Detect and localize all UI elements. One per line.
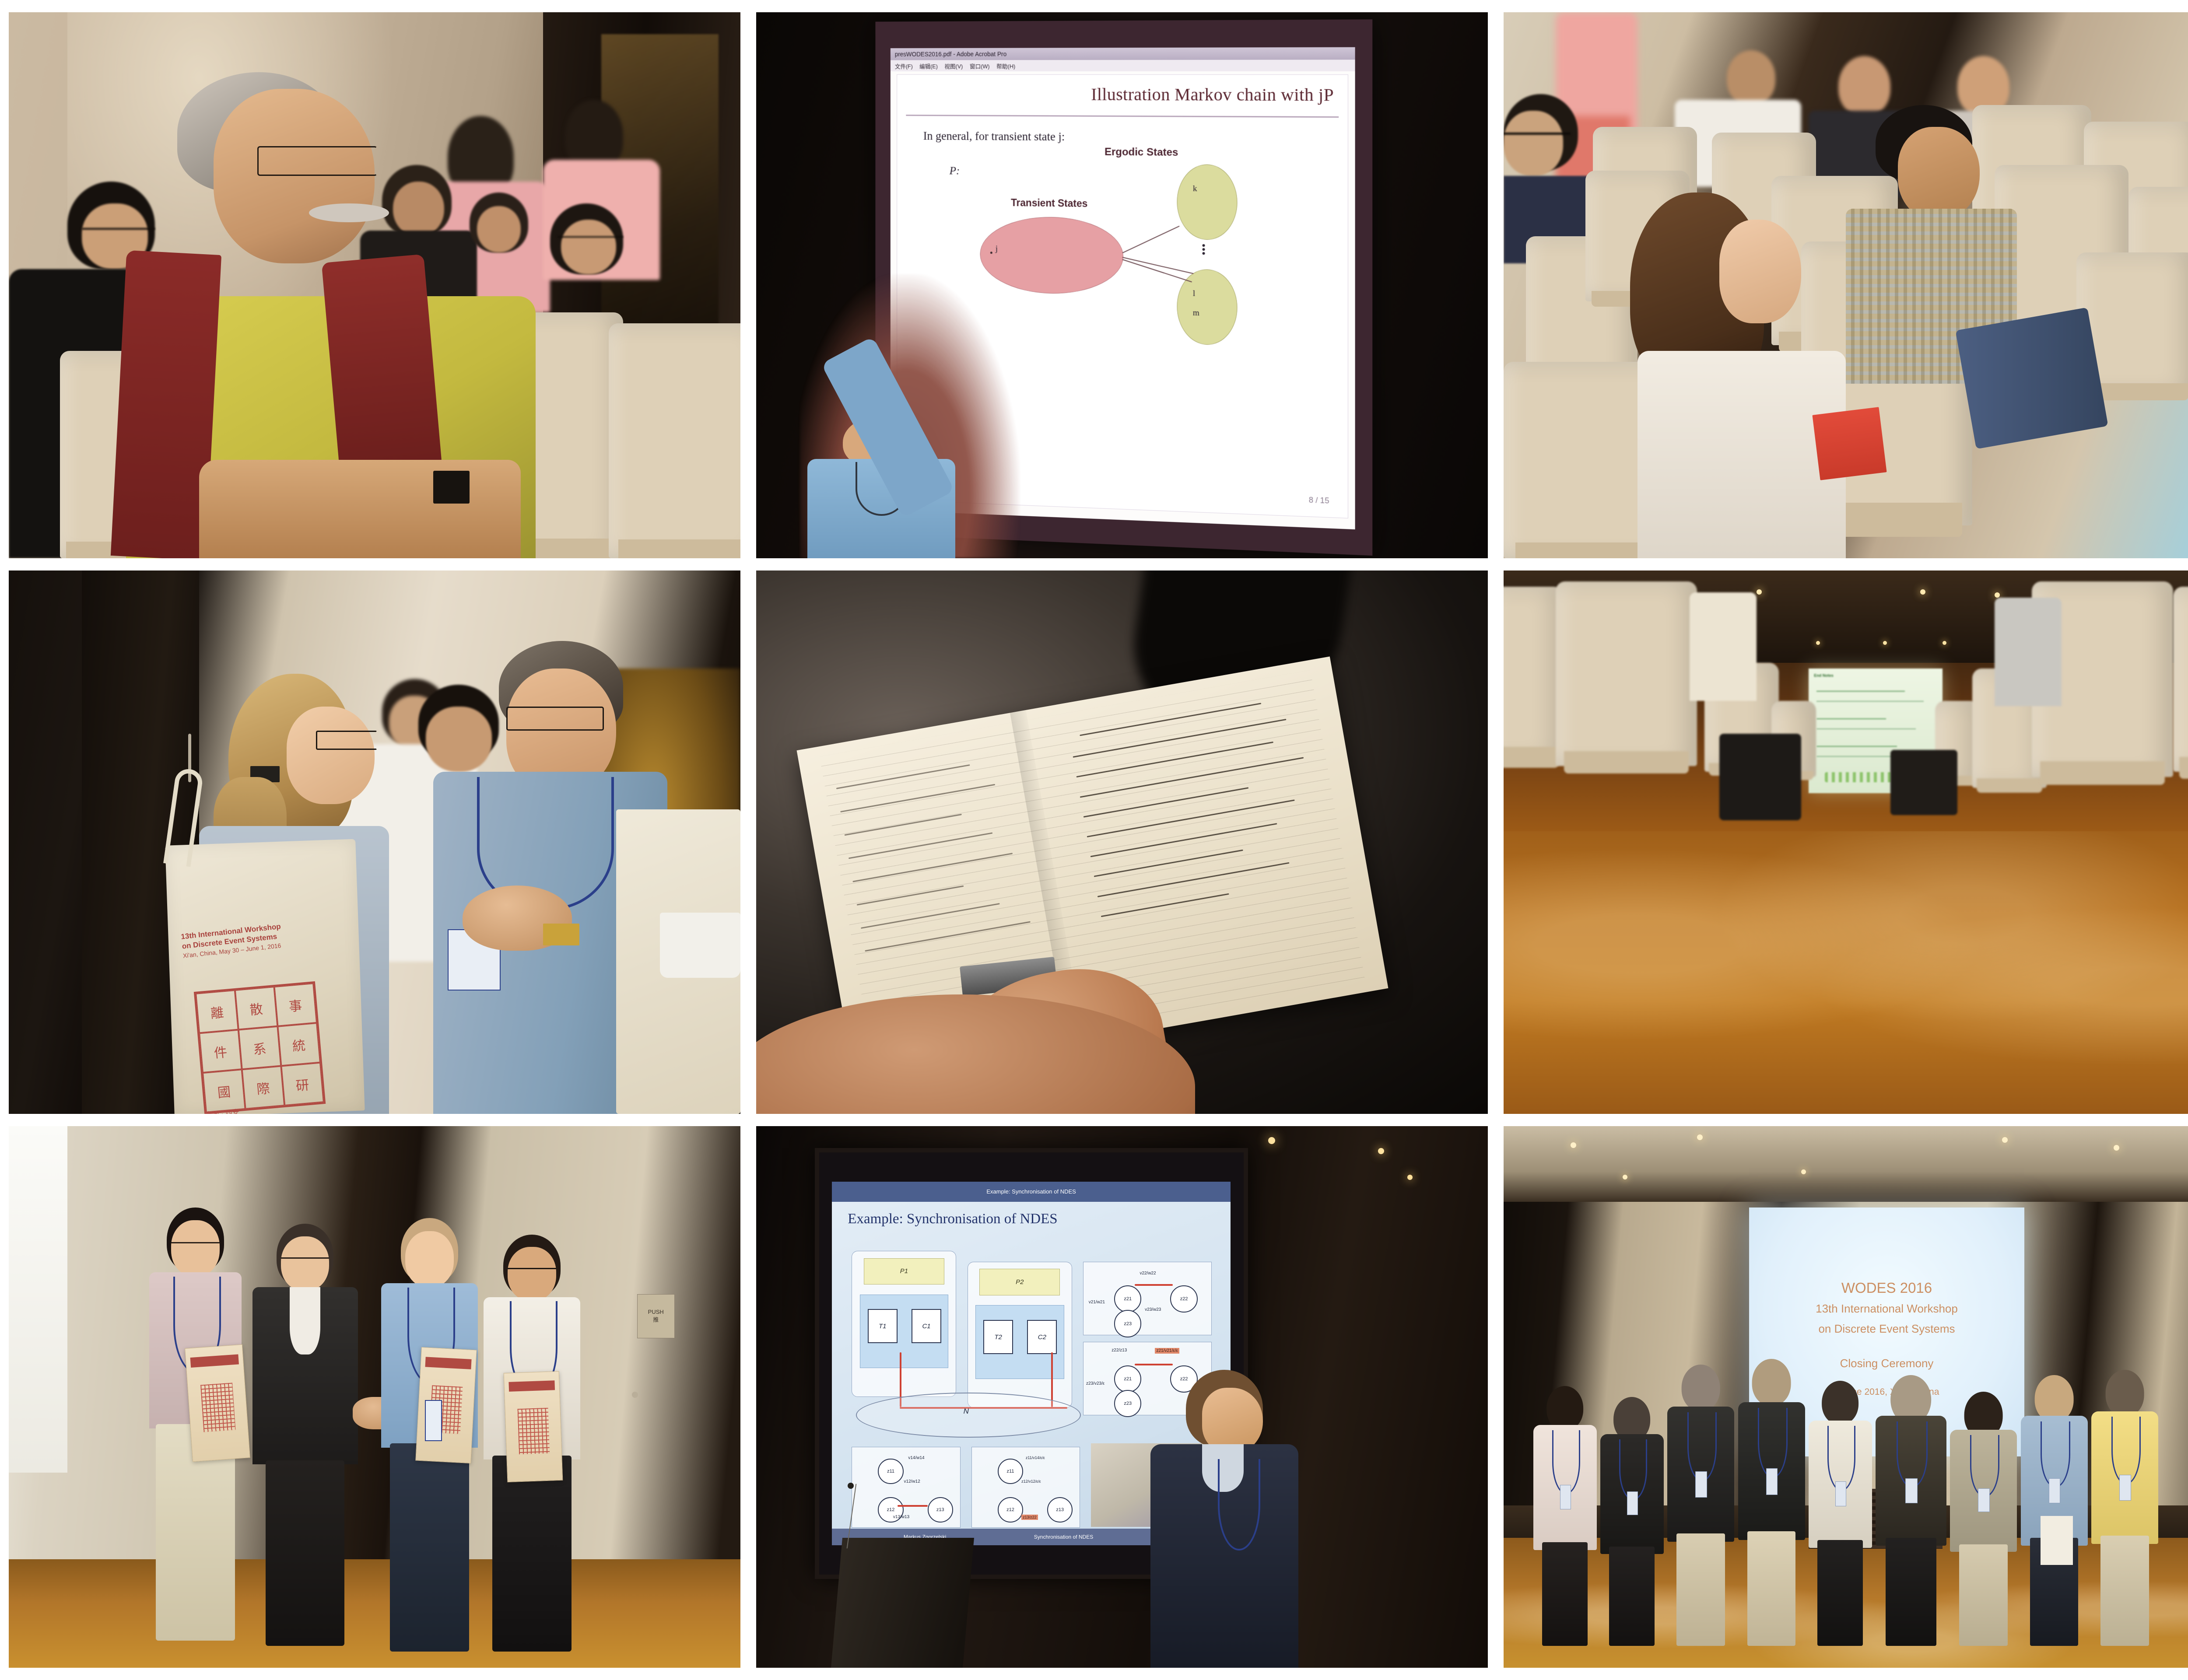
attendee-head (1838, 56, 1890, 116)
certificate-seal (517, 1408, 550, 1454)
certificate-header-band (425, 1357, 472, 1369)
lanyard (1827, 1426, 1855, 1491)
red-transition-arrow (898, 1505, 928, 1507)
node-label-j: j (996, 244, 998, 254)
state-node: z23 (1114, 1390, 1141, 1417)
chair (1504, 587, 1563, 760)
state-node: z13 (928, 1497, 953, 1522)
speaker (1144, 1370, 1305, 1668)
eyeglasses-icon (508, 1268, 556, 1277)
lectern (831, 1538, 974, 1668)
menu-bar: 文件(F) 编辑(E) 视图(V) 窗口(W) 帮助(H) (891, 59, 1355, 71)
seal-char: 件 (199, 1030, 242, 1073)
legs (1542, 1542, 1588, 1646)
group-member (1876, 1375, 1946, 1646)
ceiling (1504, 1126, 2188, 1202)
chinese-seal-logo: 離 散 事 件 系 統 國 際 研 (194, 981, 326, 1114)
trousers (266, 1460, 345, 1646)
block-c1: C1 (912, 1309, 941, 1344)
photo-handwritten-notes (756, 570, 1488, 1114)
badge (1835, 1481, 1846, 1506)
badge (1695, 1471, 1707, 1498)
page-indicator: 8 / 15 (1309, 495, 1329, 505)
lanyard (1552, 1430, 1580, 1494)
app-title: presWODES2016.pdf - Adobe Acrobat Pro (895, 51, 1006, 58)
badge (1627, 1491, 1638, 1515)
projection-screen-edge (9, 1126, 67, 1473)
head (1681, 1365, 1720, 1411)
legs (1959, 1544, 2007, 1646)
state-label: z21 (1124, 1376, 1132, 1382)
chair (1556, 581, 1697, 766)
state-node: z11 (878, 1459, 903, 1484)
trousers (492, 1456, 572, 1652)
wristwatch (543, 924, 580, 945)
slide-line-p: P: (950, 164, 960, 177)
closing-slide-line-3: on Discrete Event Systems (1749, 1322, 2024, 1336)
state-node: z11 (998, 1459, 1023, 1484)
group-member (2021, 1375, 2088, 1646)
red-transition-arrow (1135, 1284, 1173, 1286)
seated-attendee (1995, 598, 2062, 706)
state-label: z23 (1124, 1321, 1132, 1326)
transition-label: v23/w23 (1145, 1307, 1161, 1312)
shirt-collar (290, 1287, 320, 1355)
slide-bullet-line (1816, 691, 1905, 692)
transition-arrow (1122, 226, 1180, 253)
background-attendee (426, 707, 491, 772)
closing-slide-line-2: 13th International Workshop (1749, 1302, 2024, 1316)
state-node: z21 (1114, 1285, 1141, 1312)
transition-label: z22/z13 (1112, 1348, 1127, 1353)
group-member (1738, 1359, 1805, 1646)
block-c2: C2 (1027, 1320, 1057, 1354)
lanyard (1687, 1412, 1717, 1481)
vertical-ellipsis-icon: ••• (1202, 243, 1206, 255)
seal-char: 事 (274, 983, 316, 1026)
legs (1609, 1547, 1655, 1646)
state-label: z12 (1006, 1507, 1014, 1512)
closing-slide-line-1: WODES 2016 (1749, 1280, 2024, 1296)
badge (2119, 1475, 2131, 1501)
photo-delegates-conversation: 13th International Workshop on Discrete … (9, 570, 740, 1114)
lanyard (1758, 1408, 1787, 1478)
transition-label-highlight: z21/v21/ε/ε (1155, 1348, 1179, 1354)
state-label: z21 (1124, 1296, 1132, 1302)
man-face (1898, 127, 1980, 220)
automaton-panel-top-right: z21 z22 z23 v22/w22 v21/w21 v23/w23 (1083, 1262, 1212, 1335)
seal-char: 散 (235, 987, 277, 1030)
state-node: z23 (1114, 1310, 1141, 1337)
plant-p1-block: P1 (864, 1258, 944, 1284)
badge (2049, 1478, 2060, 1504)
ergodic-states-ellipse-top (1177, 164, 1238, 240)
state-label: z13 (936, 1507, 944, 1512)
block-label-c1: C1 (922, 1323, 930, 1330)
state-node: z13 (1047, 1497, 1073, 1522)
menu-item-view[interactable]: 视图(V) (945, 62, 963, 70)
slide-bullet-line (1816, 728, 1915, 729)
woman-face (1719, 220, 1801, 323)
group-member (1600, 1397, 1664, 1646)
eyeglasses-icon (281, 1257, 329, 1267)
group-member (2091, 1370, 2158, 1646)
eyeglasses-icon (257, 146, 377, 176)
group-member (1950, 1392, 2017, 1646)
wristwatch (433, 471, 470, 504)
recipient-1 (140, 1207, 250, 1641)
seal-char: 研 (281, 1063, 323, 1106)
lanyard (1897, 1421, 1928, 1488)
state-node: z21 (1114, 1365, 1141, 1393)
attendee-face (393, 182, 444, 236)
head (1546, 1386, 1583, 1430)
award-presenter (250, 1224, 360, 1646)
state-label: z11 (1007, 1469, 1014, 1474)
plant-p2-block: P2 (979, 1269, 1060, 1295)
ceiling-downlight-icon (1995, 592, 2000, 598)
ceiling-downlight-icon (2002, 1137, 2008, 1143)
menu-item-help[interactable]: 帮助(H) (996, 62, 1015, 70)
block-t1: T1 (868, 1309, 898, 1344)
state-label: z11 (887, 1469, 894, 1474)
block-label-t2: T2 (994, 1333, 1002, 1341)
node-label-k: k (1193, 184, 1197, 193)
teacup (660, 913, 740, 978)
transition-label: z23/v23/ε (1086, 1381, 1105, 1386)
photo-aisle-low-angle: End Notes (1504, 570, 2188, 1114)
chair (2173, 587, 2188, 771)
program-booklet (1812, 407, 1886, 480)
subject-arm (199, 460, 521, 558)
plant-label-p1: P1 (900, 1267, 908, 1275)
state-label: z13 (1056, 1507, 1064, 1512)
block-t2: T2 (983, 1320, 1013, 1354)
state-label: z22 (1180, 1296, 1188, 1302)
face (405, 1231, 453, 1288)
legs (1817, 1540, 1863, 1646)
certificate-seal (200, 1382, 235, 1432)
transition-label: v13/w13 (893, 1515, 909, 1519)
ceiling-downlight-icon (1697, 1134, 1703, 1140)
eyeglasses-icon (82, 228, 155, 241)
lanyard (1218, 1459, 1260, 1550)
backpack (1890, 750, 1957, 815)
woman-blouse (1637, 351, 1846, 558)
seal-char: 統 (277, 1023, 320, 1066)
slide-line-general: In general, for transient state j: (923, 129, 1065, 143)
award-certificate (504, 1371, 563, 1482)
badge (1560, 1485, 1571, 1509)
slide-header-bar: Example: Synchronisation of NDES (832, 1182, 1231, 1202)
badge (1905, 1478, 1918, 1504)
transition-label: z12/v12/ε/ε (1021, 1479, 1041, 1484)
group-member (1533, 1386, 1597, 1646)
state-label: z23 (1124, 1401, 1132, 1406)
plant-label-p2: P2 (1016, 1278, 1024, 1286)
badge (425, 1400, 442, 1441)
seal-char: 系 (238, 1026, 281, 1070)
slide-bullet-line (1816, 718, 1886, 719)
certificate-header-band (509, 1380, 555, 1392)
door-sign-zh: 推 (653, 1315, 659, 1323)
eyeglasses-icon (1504, 133, 1571, 146)
conference-tote-bag: 13th International Workshop on Discrete … (165, 839, 365, 1114)
jeans (390, 1443, 469, 1651)
attendee-face (477, 206, 521, 252)
red-transition-arrow (1135, 1364, 1173, 1365)
subject-face (214, 89, 375, 263)
head (2035, 1375, 2074, 1421)
backpack (1719, 734, 1801, 821)
photo-markov-chain-talk: presWODES2016.pdf - Adobe Acrobat Pro 文件… (756, 12, 1488, 558)
block-label-c2: C2 (1038, 1333, 1046, 1341)
legs (1886, 1538, 1936, 1646)
state-label: z12 (887, 1507, 895, 1512)
menu-item-edit[interactable]: 编辑(E) (919, 62, 938, 70)
automaton-panel-bottom-mid: z11 z12 z13 z11/v14/ε/ε z12/v12/ε/ε z13/… (971, 1447, 1080, 1528)
node-label-m: m (1193, 308, 1199, 318)
transition-label: v14/w14 (908, 1456, 924, 1460)
door-handle-icon (632, 1392, 638, 1398)
network-label: N (964, 1407, 969, 1416)
seated-attendee (1690, 592, 1757, 701)
state-node: z12 (998, 1497, 1023, 1522)
slide-heading: End Notes (1814, 673, 1834, 678)
woman-face (287, 707, 375, 805)
state-node: z22 (1170, 1285, 1197, 1312)
group-member (1667, 1365, 1734, 1646)
seal-char: 際 (242, 1066, 284, 1109)
transition-label: v21/w21 (1089, 1300, 1105, 1305)
slide-bullet-line (1816, 746, 1897, 747)
photo-audience-yellow-polo (9, 12, 740, 558)
photo-collage: presWODES2016.pdf - Adobe Acrobat Pro 文件… (0, 0, 2188, 1680)
lanyard (2111, 1417, 2141, 1484)
face (1202, 1388, 1263, 1453)
transition-label: v12/w12 (904, 1479, 920, 1484)
ceiling-downlight-icon (1801, 1169, 1806, 1174)
transition-label: z11/v14/ε/ε (1026, 1456, 1045, 1460)
recipient-3 (477, 1235, 587, 1652)
menu-item-file[interactable]: 文件(F) (895, 62, 913, 70)
photo-seated-audience-rows (1504, 12, 2188, 558)
tote-print-text: 13th International Workshop on Discrete … (181, 915, 346, 960)
badge (1766, 1468, 1778, 1495)
award-certificate (185, 1344, 250, 1461)
photo-award-presentation: PUSH 推 (9, 1126, 740, 1668)
legs (2100, 1536, 2149, 1646)
eyeglasses-icon (506, 707, 604, 731)
slide-title: Illustration Markov chain with jP (1091, 84, 1334, 105)
subject-shawl-maroon (321, 254, 442, 480)
attendee-head (1727, 50, 1775, 105)
man-jeans (1955, 307, 2108, 449)
photo-ndes-talk: Example: Synchronisation of NDES Example… (756, 1126, 1488, 1668)
block-label-t1: T1 (879, 1323, 887, 1330)
recipient-2 (375, 1218, 484, 1651)
automaton-panel-bottom-left: z11 z12 z13 v14/w14 v12/w12 v13/w13 (852, 1447, 960, 1528)
menu-item-window[interactable]: 窗口(W) (970, 62, 990, 70)
title-rule (906, 115, 1339, 118)
slide-title: Example: Synchronisation of NDES (848, 1211, 1057, 1227)
eyeglasses-icon (316, 731, 377, 749)
eyeglasses-icon (171, 1242, 219, 1252)
badge (1978, 1488, 1989, 1512)
group-member (1809, 1381, 1872, 1646)
label-transient-states: Transient States (1011, 197, 1087, 210)
head (1752, 1359, 1791, 1405)
footer-title: Synchronisation of NDES (1034, 1534, 1093, 1540)
eyeglasses-icon (558, 236, 623, 248)
ceiling-downlight-icon (1378, 1148, 1384, 1154)
photo-closing-group: WODES 2016 13th International Workshop o… (1504, 1126, 2188, 1668)
chair (609, 323, 740, 558)
transition-label: v22/w22 (1140, 1271, 1156, 1276)
transition-label-highlight: z13/z22 (1021, 1515, 1038, 1520)
door-sign: PUSH 推 (637, 1294, 675, 1338)
lanyard (2041, 1421, 2070, 1488)
patterned-carpet (1504, 831, 2188, 1114)
seal-char: 離 (196, 990, 238, 1033)
head (1822, 1381, 1858, 1425)
certificate-header-band (190, 1354, 239, 1368)
legs (1676, 1533, 1725, 1646)
red-signal-path (1051, 1352, 1053, 1407)
door-sign-en: PUSH (648, 1309, 664, 1315)
slide-bullet-line (1816, 701, 1924, 702)
legs (1747, 1531, 1795, 1646)
window-titlebar: presWODES2016.pdf - Adobe Acrobat Pro (891, 47, 1355, 60)
node-label-l: l (1193, 289, 1195, 298)
label-ergodic-states: Ergodic States (1105, 146, 1178, 159)
certificate (2041, 1516, 2072, 1564)
head (2105, 1370, 2144, 1416)
